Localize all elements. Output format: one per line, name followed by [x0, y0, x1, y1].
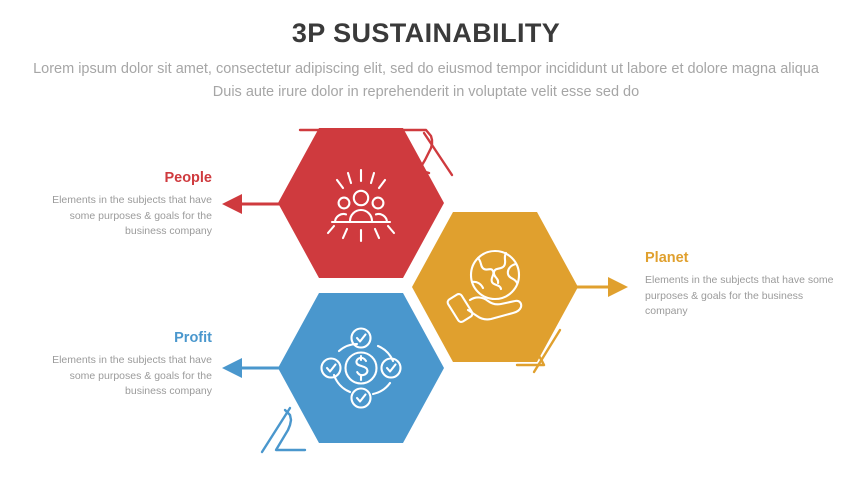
hexagon-diagram — [0, 0, 852, 480]
accent-stroke-profit-line — [276, 410, 305, 450]
label-people: People — [28, 170, 212, 187]
description-planet: Elements in the subjects that have some … — [645, 273, 835, 319]
text-block-planet: Planet Elements in the subjects that hav… — [645, 250, 835, 319]
description-people: Elements in the subjects that have some … — [28, 193, 212, 239]
hexagon-people[interactable] — [278, 128, 444, 278]
text-block-people: People Elements in the subjects that hav… — [28, 170, 212, 239]
label-planet: Planet — [645, 250, 835, 267]
label-profit: Profit — [28, 330, 212, 347]
hexagon-profit[interactable] — [278, 293, 444, 443]
accent-stroke-profit — [262, 408, 290, 452]
text-block-profit: Profit Elements in the subjects that hav… — [28, 330, 212, 399]
description-profit: Elements in the subjects that have some … — [28, 353, 212, 399]
arrow-people — [222, 194, 288, 214]
infographic-canvas: 3P SUSTAINABILITY Lorem ipsum dolor sit … — [0, 0, 852, 480]
